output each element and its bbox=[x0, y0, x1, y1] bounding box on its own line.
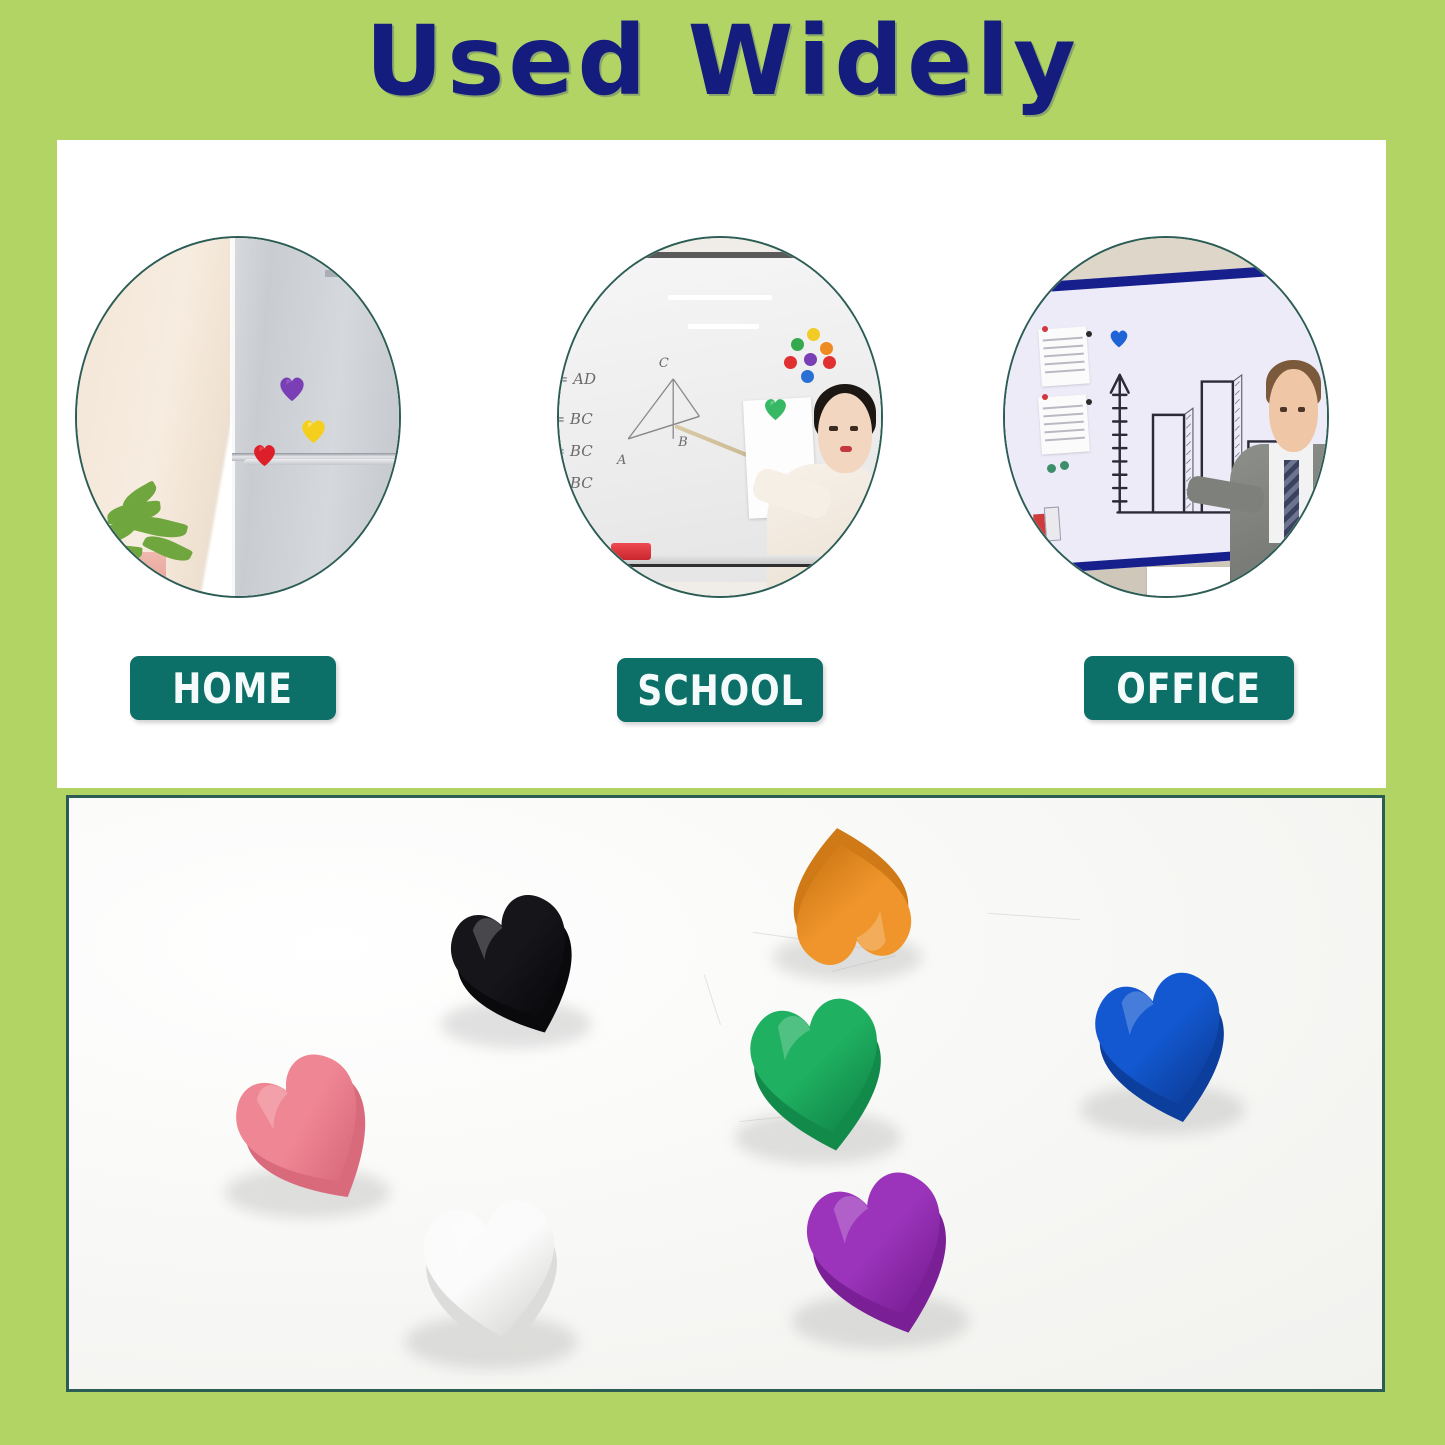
businessman-figure bbox=[1230, 381, 1329, 589]
pin-icon bbox=[1042, 326, 1048, 332]
scene-photo-school: = AD = BC = BC = BC A B C bbox=[557, 236, 883, 598]
teacher-head bbox=[818, 393, 872, 473]
round-magnet-yellow bbox=[807, 328, 820, 341]
triangle-label-b: B bbox=[678, 435, 688, 450]
label-badge-school[interactable]: SCHOOL bbox=[617, 658, 823, 722]
round-magnet-blue bbox=[801, 370, 814, 383]
necktie bbox=[1284, 460, 1298, 568]
whiteboard-top-frame bbox=[557, 252, 881, 258]
badge-label-office: OFFICE bbox=[1117, 664, 1262, 713]
white-heart-magnet bbox=[381, 1172, 604, 1378]
badge-label-school: SCHOOL bbox=[637, 666, 803, 715]
whiteboard-marker-line bbox=[668, 295, 771, 300]
board-note-0: = AD bbox=[557, 370, 596, 388]
purple-heart-magnet bbox=[277, 374, 307, 402]
round-magnet-green bbox=[791, 338, 804, 351]
red-eraser bbox=[611, 543, 651, 560]
pinned-note bbox=[1038, 394, 1090, 454]
green-marker bbox=[594, 549, 607, 560]
pin-icon bbox=[1042, 394, 1048, 400]
whiteboard-marker-line bbox=[688, 324, 759, 329]
board-note-1: = BC bbox=[557, 410, 593, 428]
round-magnet-orange bbox=[820, 342, 833, 355]
scene-row: = AD = BC = BC = BC A B C bbox=[57, 140, 1386, 660]
marker-holder bbox=[1044, 506, 1061, 541]
triangle-diagram bbox=[617, 367, 720, 460]
product-photo-panel bbox=[66, 795, 1385, 1392]
pinned-note bbox=[1038, 326, 1090, 386]
round-magnet-purple bbox=[804, 353, 817, 366]
fridge-edge-highlight bbox=[230, 236, 235, 598]
red-heart-magnet bbox=[251, 442, 278, 467]
page-title: Used Widely bbox=[0, 6, 1445, 116]
desk-paper bbox=[1147, 567, 1231, 598]
head bbox=[1269, 369, 1318, 452]
triangle-label-a: A bbox=[617, 453, 626, 468]
fridge-brand-logo bbox=[325, 270, 355, 277]
scene-photo-home bbox=[75, 236, 401, 598]
pin-icon bbox=[1086, 399, 1092, 405]
yellow-heart-magnet bbox=[299, 417, 328, 444]
scene-photo-office bbox=[1003, 236, 1329, 598]
badge-label-home: HOME bbox=[173, 664, 294, 713]
orange-heart-magnet bbox=[751, 806, 949, 992]
infographic-page: Used Widely bbox=[0, 0, 1445, 1445]
label-badge-office[interactable]: OFFICE bbox=[1084, 656, 1294, 720]
small-green-magnet bbox=[1047, 464, 1056, 473]
board-note-3: = BC bbox=[557, 474, 593, 492]
potted-plant bbox=[83, 481, 212, 598]
pin-icon bbox=[1086, 331, 1092, 337]
label-badge-home[interactable]: HOME bbox=[130, 656, 336, 720]
board-note-2: = BC bbox=[557, 442, 593, 460]
triangle-label-c: C bbox=[659, 356, 669, 371]
